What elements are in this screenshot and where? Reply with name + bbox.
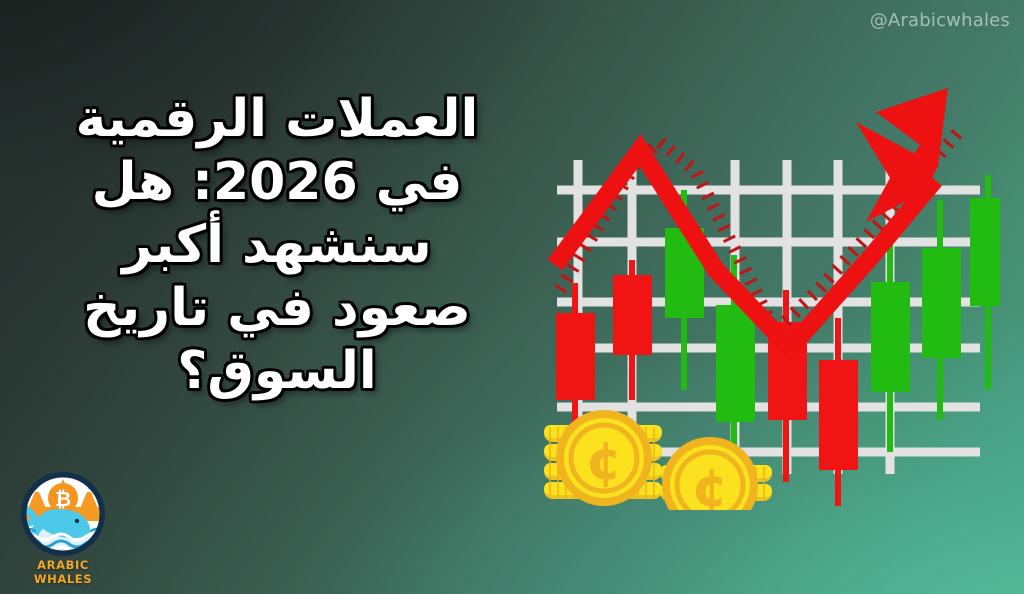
brand-logo[interactable]: ₿ [13, 471, 113, 586]
social-post-canvas: @Arabicwhales العملات الرقمية في 2026: ه… [0, 0, 1024, 594]
svg-text:¢: ¢ [692, 458, 729, 510]
svg-text:¢: ¢ [586, 431, 623, 492]
candlestick-chart-illustration: ¢ ¢ [520, 70, 1000, 510]
watermark-handle: @Arabicwhales [870, 10, 1010, 31]
page-title: العملات الرقمية في 2026: هل سنشهد أكبر ص… [67, 88, 487, 403]
cent-coin-icon-1: ¢ [556, 410, 652, 506]
candle-2-down [613, 260, 652, 400]
candle-9-up [970, 175, 1000, 390]
candle-8-up [922, 200, 961, 420]
chart-svg: ¢ ¢ [520, 70, 1000, 510]
whale-icon: ₿ [13, 471, 113, 557]
brand-name-label: ARABIC WHALES [13, 558, 113, 586]
svg-text:₿: ₿ [55, 487, 71, 511]
